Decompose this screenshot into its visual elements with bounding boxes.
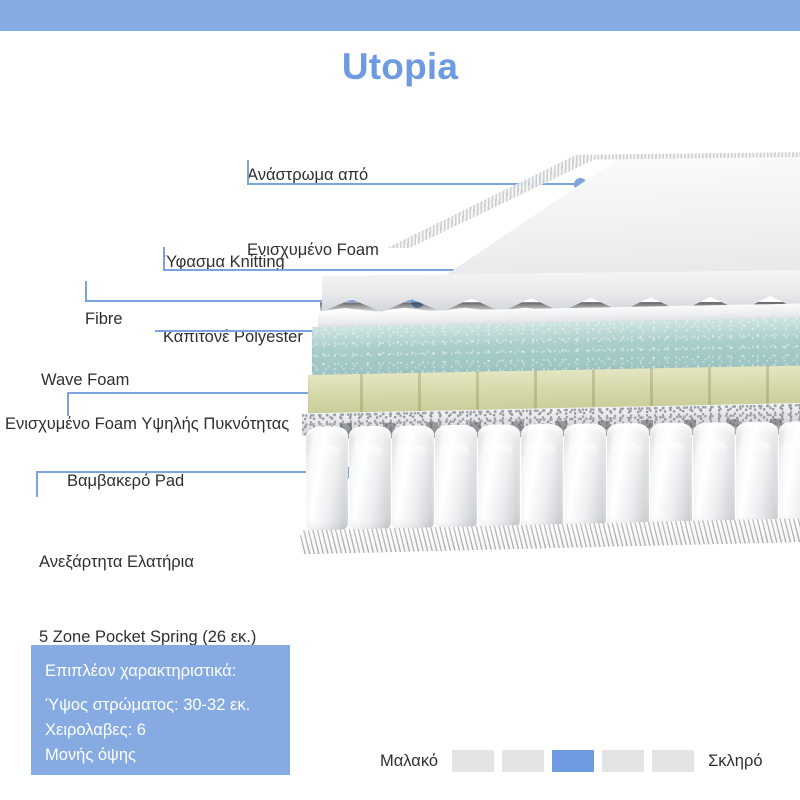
pocket-spring xyxy=(478,424,520,530)
callout-knitting-line2: Καπιτονέ Polyester xyxy=(163,325,303,350)
pocket-spring xyxy=(607,423,649,529)
firmness-scale: Μαλακό Σκληρό xyxy=(380,748,780,774)
leader-cotton-pad-vertical xyxy=(67,392,69,416)
pocket-spring xyxy=(306,426,348,532)
firmness-soft-label: Μαλακό xyxy=(380,752,438,771)
callout-pocket-spring-line1: Ανεξάρτητα Ελατήρια xyxy=(39,550,256,575)
pocket-spring xyxy=(736,422,778,528)
features-box: Επιπλέον χαρακτηριστικά: Ύψος στρώματος:… xyxy=(31,645,290,775)
pocket-spring xyxy=(779,421,800,527)
features-item-sides: Μονής όψης xyxy=(45,743,290,768)
leader-topper-vertical xyxy=(247,160,249,185)
callout-knitting-line1: Ύφασμα Knitting xyxy=(163,250,303,275)
firmness-segment-5[interactable] xyxy=(652,750,694,772)
firmness-segment-1[interactable] xyxy=(452,750,494,772)
pocket-spring xyxy=(693,422,735,528)
pocket-spring xyxy=(521,424,563,530)
page-title: Utopia xyxy=(0,46,800,88)
pocket-spring xyxy=(564,424,606,530)
firmness-segment-3[interactable] xyxy=(552,750,594,772)
mattress-illustration xyxy=(300,150,800,560)
leader-fibre-vertical xyxy=(85,281,87,302)
features-heading: Επιπλέον χαρακτηριστικά: xyxy=(45,659,290,683)
pocket-spring xyxy=(392,425,434,531)
firmness-segment-2[interactable] xyxy=(502,750,544,772)
top-accent-bar xyxy=(0,0,800,31)
firmness-firm-label: Σκληρό xyxy=(708,752,762,771)
leader-pocket-spring-vertical xyxy=(36,471,38,497)
features-item-handles: Χειρολαβες: 6 xyxy=(45,718,290,743)
firmness-segment-4[interactable] xyxy=(602,750,644,772)
pocket-spring xyxy=(349,426,391,532)
infographic-canvas: Utopia Ανάστρωμα από Ενισχυμένο Foam Ύφα… xyxy=(0,0,800,800)
features-item-height: Ύψος στρώματος: 30-32 εκ. xyxy=(45,693,290,718)
pocket-spring xyxy=(435,425,477,531)
pocket-spring xyxy=(650,423,692,529)
leader-knitting-vertical xyxy=(163,247,165,271)
firmness-track[interactable] xyxy=(452,750,694,772)
